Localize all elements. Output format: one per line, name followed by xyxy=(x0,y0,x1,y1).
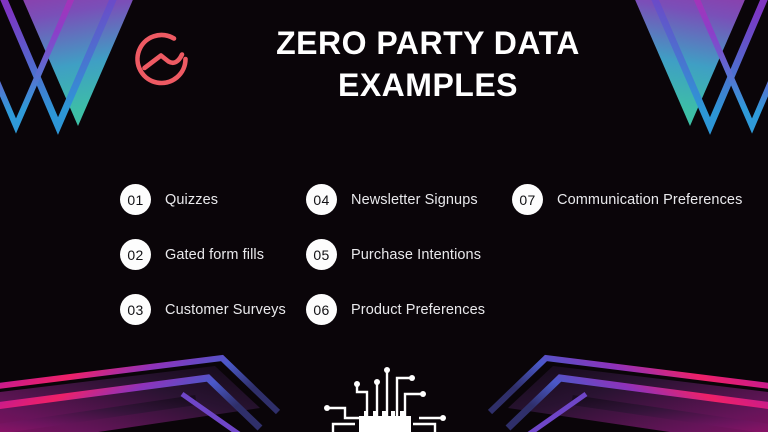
item-number-badge: 07 xyxy=(512,184,543,215)
page-title: ZERO PARTY DATA EXAMPLES xyxy=(218,22,638,106)
item-number-badge: 01 xyxy=(120,184,151,215)
item-number-badge: 05 xyxy=(306,239,337,270)
circuit-chip-icon xyxy=(309,362,459,432)
brand-logo-icon xyxy=(130,28,196,94)
item-label: Quizzes xyxy=(165,192,218,208)
item-number-badge: 04 xyxy=(306,184,337,215)
list-item[interactable]: 06 Product Preferences xyxy=(306,294,512,325)
item-label: Gated form fills xyxy=(165,247,264,263)
item-number-badge: 03 xyxy=(120,294,151,325)
item-number-badge: 02 xyxy=(120,239,151,270)
list-item[interactable]: 04 Newsletter Signups xyxy=(306,184,512,215)
item-label: Product Preferences xyxy=(351,302,485,318)
list-item[interactable]: 05 Purchase Intentions xyxy=(306,239,512,270)
presentation-slide: ZERO PARTY DATA EXAMPLES 01 Quizzes 04 N… xyxy=(0,0,768,432)
item-label: Customer Surveys xyxy=(165,302,286,318)
item-label: Communication Preferences xyxy=(557,192,742,208)
item-label: Newsletter Signups xyxy=(351,192,478,208)
list-item[interactable]: 07 Communication Preferences xyxy=(512,184,758,215)
title-block: ZERO PARTY DATA EXAMPLES xyxy=(218,22,638,106)
list-item[interactable]: 03 Customer Surveys xyxy=(120,294,306,325)
slide-header: ZERO PARTY DATA EXAMPLES xyxy=(0,22,768,106)
item-number-badge: 06 xyxy=(306,294,337,325)
item-label: Purchase Intentions xyxy=(351,247,481,263)
list-item[interactable]: 01 Quizzes xyxy=(120,184,306,215)
list-item[interactable]: 02 Gated form fills xyxy=(120,239,306,270)
bottom-right-band-decoration xyxy=(478,350,768,432)
examples-list: 01 Quizzes 04 Newsletter Signups 07 Comm… xyxy=(120,172,758,337)
bottom-left-band-decoration xyxy=(0,350,290,432)
